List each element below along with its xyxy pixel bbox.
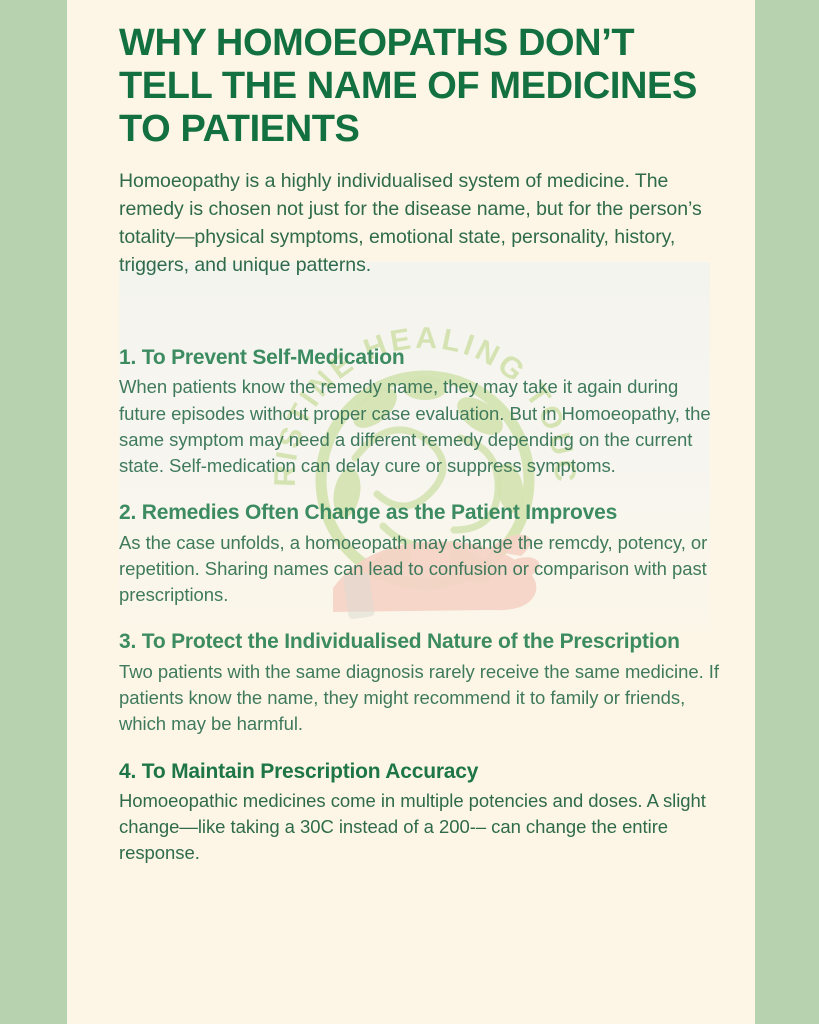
section-3-body: Two patients with the same diagnosis rar…	[119, 659, 719, 738]
section-3: 3. To Protect the Individualised Nature …	[119, 629, 719, 737]
section-2-body: As the case unfolds, a homoeopath may ch…	[119, 530, 719, 609]
infographic-card: PRISTINE HEALING TOUCH WHY HOMOEOPATHS D…	[67, 0, 755, 1024]
section-1-body: When patients know the remedy name, they…	[119, 374, 719, 479]
infographic-content: WHY HOMOEOPATHS DON’T TELL THE NAME OF M…	[119, 22, 719, 888]
section-2-title: 2. Remedies Often Change as the Patient …	[119, 500, 719, 526]
page-title: WHY HOMOEOPATHS DON’T TELL THE NAME OF M…	[119, 22, 719, 151]
section-3-title: 3. To Protect the Individualised Nature …	[119, 629, 719, 655]
section-2: 2. Remedies Often Change as the Patient …	[119, 500, 719, 608]
section-4-title: 4. To Maintain Prescription Accuracy	[119, 759, 719, 785]
section-4: 4. To Maintain Prescription Accuracy Hom…	[119, 759, 719, 867]
intro-paragraph: Homoeopathy is a highly individualised s…	[119, 167, 719, 279]
section-1-title: 1. To Prevent Self-Medication	[119, 345, 719, 371]
section-1: 1. To Prevent Self-Medication When patie…	[119, 345, 719, 479]
section-4-body: Homoeopathic medicines come in multiple …	[119, 788, 719, 867]
